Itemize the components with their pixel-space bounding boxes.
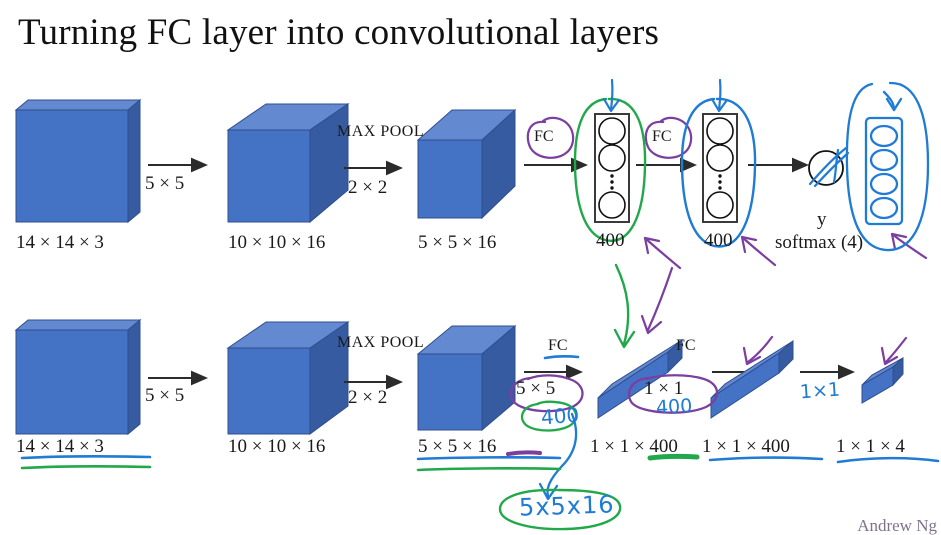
row2-fc2-op: FC (676, 338, 696, 354)
row1-input-volume (16, 100, 140, 222)
slide-canvas: Turning FC layer into convolutional laye… (0, 0, 941, 532)
row1-fc1-column (595, 114, 629, 222)
row2-conv-out-label: 10 × 10 × 16 (228, 437, 325, 456)
row2-fc1-filter: 5 × 5 (516, 379, 555, 398)
row1-fc2-column (703, 114, 737, 222)
row2-fc1-op: FC (548, 338, 568, 354)
row1-output-y: y (817, 210, 827, 229)
row2-input-volume (16, 320, 140, 434)
row1-fc1-op: FC (534, 129, 554, 145)
row2-fc2-out-label: 1 × 1 × 400 (702, 437, 790, 456)
row1-fc1-label: 400 (596, 231, 625, 250)
row2-pool-volume (418, 326, 515, 430)
row2-output-bar (862, 358, 903, 403)
row1-input-label: 14 × 14 × 3 (16, 233, 104, 252)
handwritten-400-green-circle: 400 (540, 405, 579, 428)
row1-pool-volume (418, 110, 515, 218)
page-title: Turning FC layer into convolutional laye… (18, 14, 659, 51)
row2-fc1-out-label: 1 × 1 × 400 (590, 437, 678, 456)
row1-output-softmax: softmax (4) (775, 233, 863, 252)
handwritten-5x5x16: 5x5x16 (519, 492, 615, 519)
row2-conv-op: 5 × 5 (145, 386, 184, 405)
row2-pool-op-name: MAX POOL (337, 335, 424, 351)
row1-conv-op: 5 × 5 (145, 174, 184, 193)
row2-input-label: 14 × 14 × 3 (16, 437, 104, 456)
row1-fc2-label: 400 (704, 231, 733, 250)
row2-pool-op: 2 × 2 (348, 388, 387, 407)
row1-softmax-node (809, 151, 843, 185)
row2-final-out-label: 1 × 1 × 4 (836, 437, 905, 456)
row1-fc2-op: FC (652, 129, 672, 145)
row1-pool-out-label: 5 × 5 × 16 (418, 233, 496, 252)
row2-fc2-bar (711, 341, 793, 418)
row1-conv-out-label: 10 × 10 × 16 (228, 233, 325, 252)
row1-pool-op: 2 × 2 (348, 178, 387, 197)
row2-pool-out-label: 5 × 5 × 16 (418, 437, 496, 456)
row1-pool-op-name: MAX POOL (337, 124, 424, 140)
handwritten-1x1: 1×1 (799, 381, 840, 403)
row2-conv-volume (228, 322, 348, 434)
watermark: Andrew Ng (857, 517, 937, 534)
handwritten-400-blue: 400 (656, 397, 693, 418)
row1-conv-volume (228, 104, 348, 222)
